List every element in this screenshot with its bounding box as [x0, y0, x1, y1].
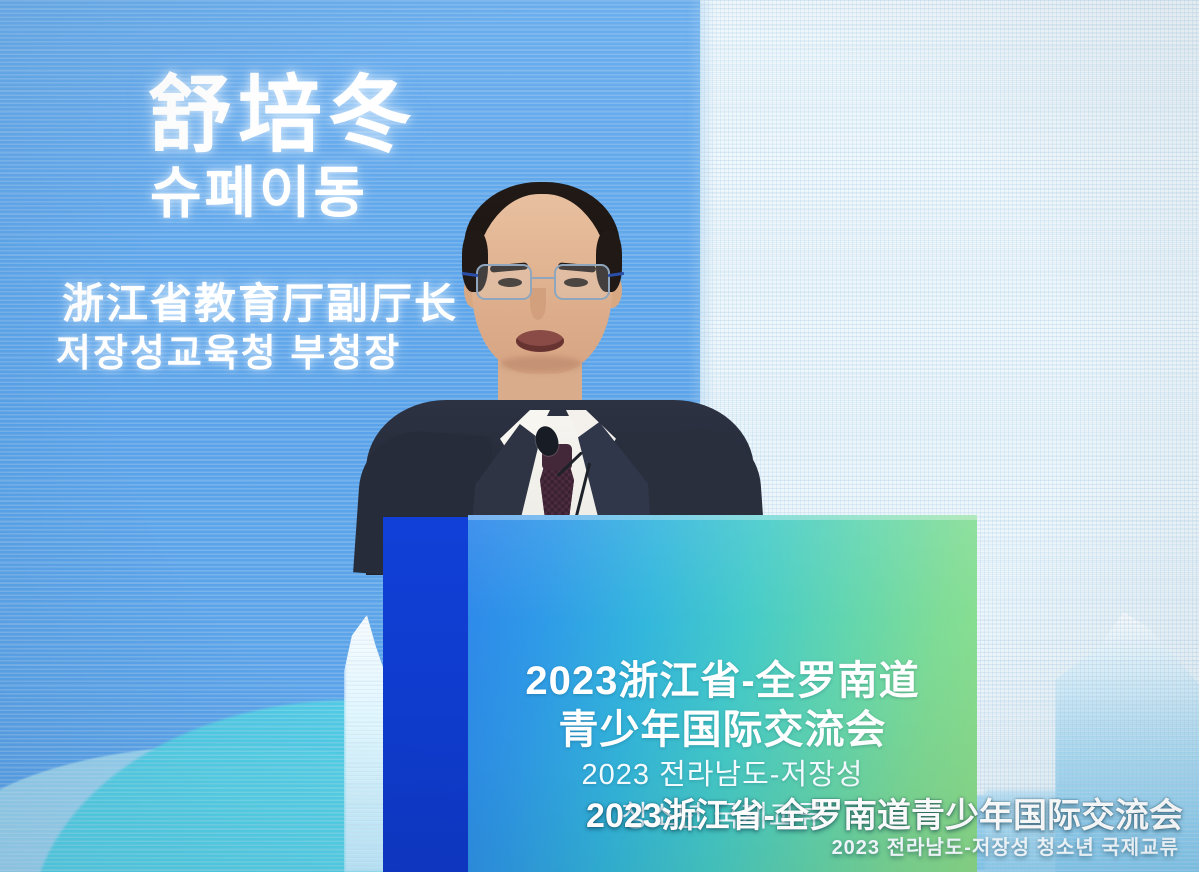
lens-right	[554, 264, 610, 300]
podium-title-line-2: 青少年国际交流会	[468, 697, 977, 755]
mouth	[516, 330, 564, 352]
glasses-bridge	[532, 277, 554, 279]
lens-left	[476, 264, 532, 300]
watermark-main-text: 2023浙江省-全罗南道青少年国际交流会	[586, 788, 1183, 837]
watermark-sub-text: 2023 전라남도-저장성 청소년 국제교류	[832, 831, 1179, 860]
eyeglasses	[476, 264, 610, 302]
chin-shadow	[500, 356, 582, 372]
speaker-name-korean: 슈페이동	[150, 148, 368, 229]
speaker-person	[350, 160, 770, 560]
event-watermark: 2023浙江省-全罗南道青少年国际交流会 2023 전라남도-저장성 청소년 국…	[0, 784, 1199, 872]
conference-photo: 舒培冬 슈페이동 浙江省教育厅副厅长 저장성교육청 부청장	[0, 0, 1199, 872]
